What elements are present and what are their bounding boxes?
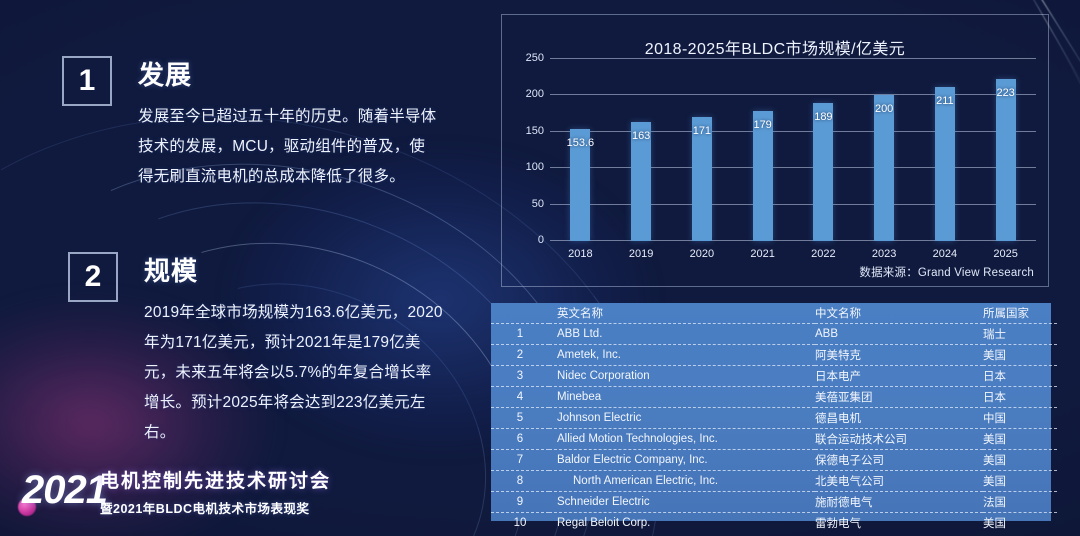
chart-bar-value-label: 211 — [936, 95, 954, 107]
table-header-row: 英文名称 中文名称 所属国家 — [491, 303, 1057, 324]
cell-country: 美国 — [983, 429, 1057, 450]
chart-x-axis-labels: 20182019202020212022202320242025 — [550, 248, 1036, 260]
table-row: 9Schneider Electric施耐德电气法国 — [491, 492, 1057, 513]
chart-bar-slot: 179 — [732, 59, 793, 241]
cell-chinese-name: 雷勃电气 — [815, 513, 983, 534]
cell-index: 9 — [491, 492, 549, 513]
table-row: 3Nidec Corporation日本电产日本 — [491, 366, 1057, 387]
cell-country: 美国 — [983, 345, 1057, 366]
cell-index: 7 — [491, 450, 549, 471]
chart-bar-slot: 153.6 — [550, 59, 611, 241]
chart-bars-group: 153.6163171179189200211223 — [550, 59, 1036, 241]
table-body: 1ABB Ltd.ABB瑞士2Ametek, Inc.阿美特克美国3Nidec … — [491, 324, 1057, 534]
logo-text-block: 电机控制先进技术研讨会 暨2021年BLDC电机技术市场表现奖 — [100, 470, 340, 517]
cell-english-name: Schneider Electric — [549, 492, 815, 513]
section-number-badge: 1 — [62, 56, 112, 106]
cell-index: 10 — [491, 513, 549, 534]
market-size-bar-chart: 2018-2025年BLDC市场规模/亿美元 050100150200250 1… — [501, 14, 1049, 287]
chart-bar-value-label: 171 — [693, 125, 711, 137]
chart-bar-value-label: 179 — [753, 119, 771, 131]
cell-chinese-name: 北美电气公司 — [815, 471, 983, 492]
table-row: 6Allied Motion Technologies, Inc.联合运动技术公… — [491, 429, 1057, 450]
manufacturer-table: 英文名称 中文名称 所属国家 1ABB Ltd.ABB瑞士2Ametek, In… — [491, 303, 1051, 521]
chart-title: 2018-2025年BLDC市场规模/亿美元 — [502, 35, 1048, 59]
chart-bar: 153.6 — [570, 129, 590, 241]
cell-index: 5 — [491, 408, 549, 429]
cell-index: 2 — [491, 345, 549, 366]
cell-country: 中国 — [983, 408, 1057, 429]
cell-english-name: Johnson Electric — [549, 408, 815, 429]
chart-bar-slot: 163 — [611, 59, 672, 241]
chart-x-tick-label: 2021 — [732, 248, 793, 260]
chart-bar-value-label: 163 — [632, 130, 650, 142]
section-scale: 2 规模 2019年全球市场规模为163.6亿美元，2020年为171亿美元，预… — [68, 252, 446, 448]
cell-english-name: Allied Motion Technologies, Inc. — [549, 429, 815, 450]
table-row: 8North American Electric, Inc.北美电气公司美国 — [491, 471, 1057, 492]
column-header-index — [491, 303, 549, 324]
cell-chinese-name: 美蓓亚集团 — [815, 387, 983, 408]
section-title: 发展 — [138, 62, 440, 88]
cell-chinese-name: 施耐德电气 — [815, 492, 983, 513]
logo-year: 2021 — [22, 470, 107, 510]
cell-chinese-name: 德昌电机 — [815, 408, 983, 429]
cell-index: 1 — [491, 324, 549, 345]
cell-country: 美国 — [983, 513, 1057, 534]
cell-country: 日本 — [983, 366, 1057, 387]
table-row: 1ABB Ltd.ABB瑞士 — [491, 324, 1057, 345]
chart-bar-slot: 171 — [672, 59, 733, 241]
chart-x-tick-label: 2019 — [611, 248, 672, 260]
cell-index: 6 — [491, 429, 549, 450]
chart-x-tick-label: 2025 — [975, 248, 1036, 260]
chart-plot-area: 050100150200250 153.61631711791892002112… — [550, 59, 1036, 241]
chart-bar: 163 — [631, 122, 651, 241]
cell-english-name: Minebea — [549, 387, 815, 408]
cell-country: 瑞士 — [983, 324, 1057, 345]
chart-bar-value-label: 223 — [996, 87, 1014, 99]
cell-chinese-name: 联合运动技术公司 — [815, 429, 983, 450]
cell-english-name: ABB Ltd. — [549, 324, 815, 345]
chart-bar: 223 — [996, 79, 1016, 241]
chart-y-tick-label: 50 — [532, 198, 544, 210]
chart-y-tick-label: 200 — [526, 88, 544, 100]
chart-bar-slot: 223 — [975, 59, 1036, 241]
cell-country: 日本 — [983, 387, 1057, 408]
table-row: 7Baldor Electric Company, Inc.保德电子公司美国 — [491, 450, 1057, 471]
section-body: 发展 发展至今已超过五十年的历史。随着半导体技术的发展，MCU，驱动组件的普及，… — [138, 62, 440, 192]
table-row: 10Regal Beloit Corp.雷勃电气美国 — [491, 513, 1057, 534]
cell-index: 3 — [491, 366, 549, 387]
logo-subtitle: 暨2021年BLDC电机技术市场表现奖 — [100, 498, 340, 517]
cell-english-name: North American Electric, Inc. — [549, 471, 815, 492]
cell-country: 美国 — [983, 450, 1057, 471]
chart-bar-value-label: 200 — [875, 103, 893, 115]
manufacturer-table-grid: 英文名称 中文名称 所属国家 1ABB Ltd.ABB瑞士2Ametek, In… — [491, 303, 1057, 533]
cell-index: 4 — [491, 387, 549, 408]
chart-x-tick-label: 2018 — [550, 248, 611, 260]
section-paragraph: 发展至今已超过五十年的历史。随着半导体技术的发展，MCU，驱动组件的普及，使得无… — [138, 102, 440, 192]
section-paragraph: 2019年全球市场规模为163.6亿美元，2020年为171亿美元，预计2021… — [144, 298, 446, 448]
section-development: 1 发展 发展至今已超过五十年的历史。随着半导体技术的发展，MCU，驱动组件的普… — [62, 56, 440, 192]
chart-bar: 189 — [813, 103, 833, 241]
cell-english-name: Nidec Corporation — [549, 366, 815, 387]
chart-bar: 179 — [753, 111, 773, 241]
chart-bar: 200 — [874, 95, 894, 241]
chart-bar: 211 — [935, 87, 955, 241]
column-header-country: 所属国家 — [983, 303, 1057, 324]
chart-y-tick-label: 250 — [526, 52, 544, 64]
column-header-chinese: 中文名称 — [815, 303, 983, 324]
cell-chinese-name: ABB — [815, 324, 983, 345]
chart-bar-value-label: 189 — [814, 111, 832, 123]
chart-y-tick-label: 100 — [526, 161, 544, 173]
cell-country: 美国 — [983, 471, 1057, 492]
left-content-column: 1 发展 发展至今已超过五十年的历史。随着半导体技术的发展，MCU，驱动组件的普… — [0, 0, 480, 536]
chart-x-tick-label: 2020 — [672, 248, 733, 260]
chart-bar-slot: 189 — [793, 59, 854, 241]
table-row: 4Minebea美蓓亚集团日本 — [491, 387, 1057, 408]
chart-y-tick-label: 150 — [526, 125, 544, 137]
cell-chinese-name: 保德电子公司 — [815, 450, 983, 471]
chart-bar-value-label: 153.6 — [567, 137, 595, 149]
table-row: 2Ametek, Inc.阿美特克美国 — [491, 345, 1057, 366]
section-title: 规模 — [144, 258, 446, 284]
cell-index: 8 — [491, 471, 549, 492]
cell-english-name: Regal Beloit Corp. — [549, 513, 815, 534]
chart-bar-slot: 200 — [854, 59, 915, 241]
logo-main-title: 电机控制先进技术研讨会 — [100, 470, 340, 494]
chart-bar-slot: 211 — [915, 59, 976, 241]
chart-x-tick-label: 2023 — [854, 248, 915, 260]
chart-y-tick-label: 0 — [538, 234, 544, 246]
cell-country: 法国 — [983, 492, 1057, 513]
cell-chinese-name: 日本电产 — [815, 366, 983, 387]
column-header-english: 英文名称 — [549, 303, 815, 324]
event-logo: 2021 电机控制先进技术研讨会 暨2021年BLDC电机技术市场表现奖 — [14, 468, 344, 530]
chart-x-tick-label: 2022 — [793, 248, 854, 260]
section-body: 规模 2019年全球市场规模为163.6亿美元，2020年为171亿美元，预计2… — [144, 258, 446, 448]
chart-source-note: 数据来源：Grand View Research — [859, 264, 1034, 280]
chart-x-tick-label: 2024 — [915, 248, 976, 260]
cell-chinese-name: 阿美特克 — [815, 345, 983, 366]
table-head: 英文名称 中文名称 所属国家 — [491, 303, 1057, 324]
section-number-badge: 2 — [68, 252, 118, 302]
cell-english-name: Baldor Electric Company, Inc. — [549, 450, 815, 471]
cell-english-name: Ametek, Inc. — [549, 345, 815, 366]
chart-bar: 171 — [692, 117, 712, 241]
table-row: 5Johnson Electric德昌电机中国 — [491, 408, 1057, 429]
